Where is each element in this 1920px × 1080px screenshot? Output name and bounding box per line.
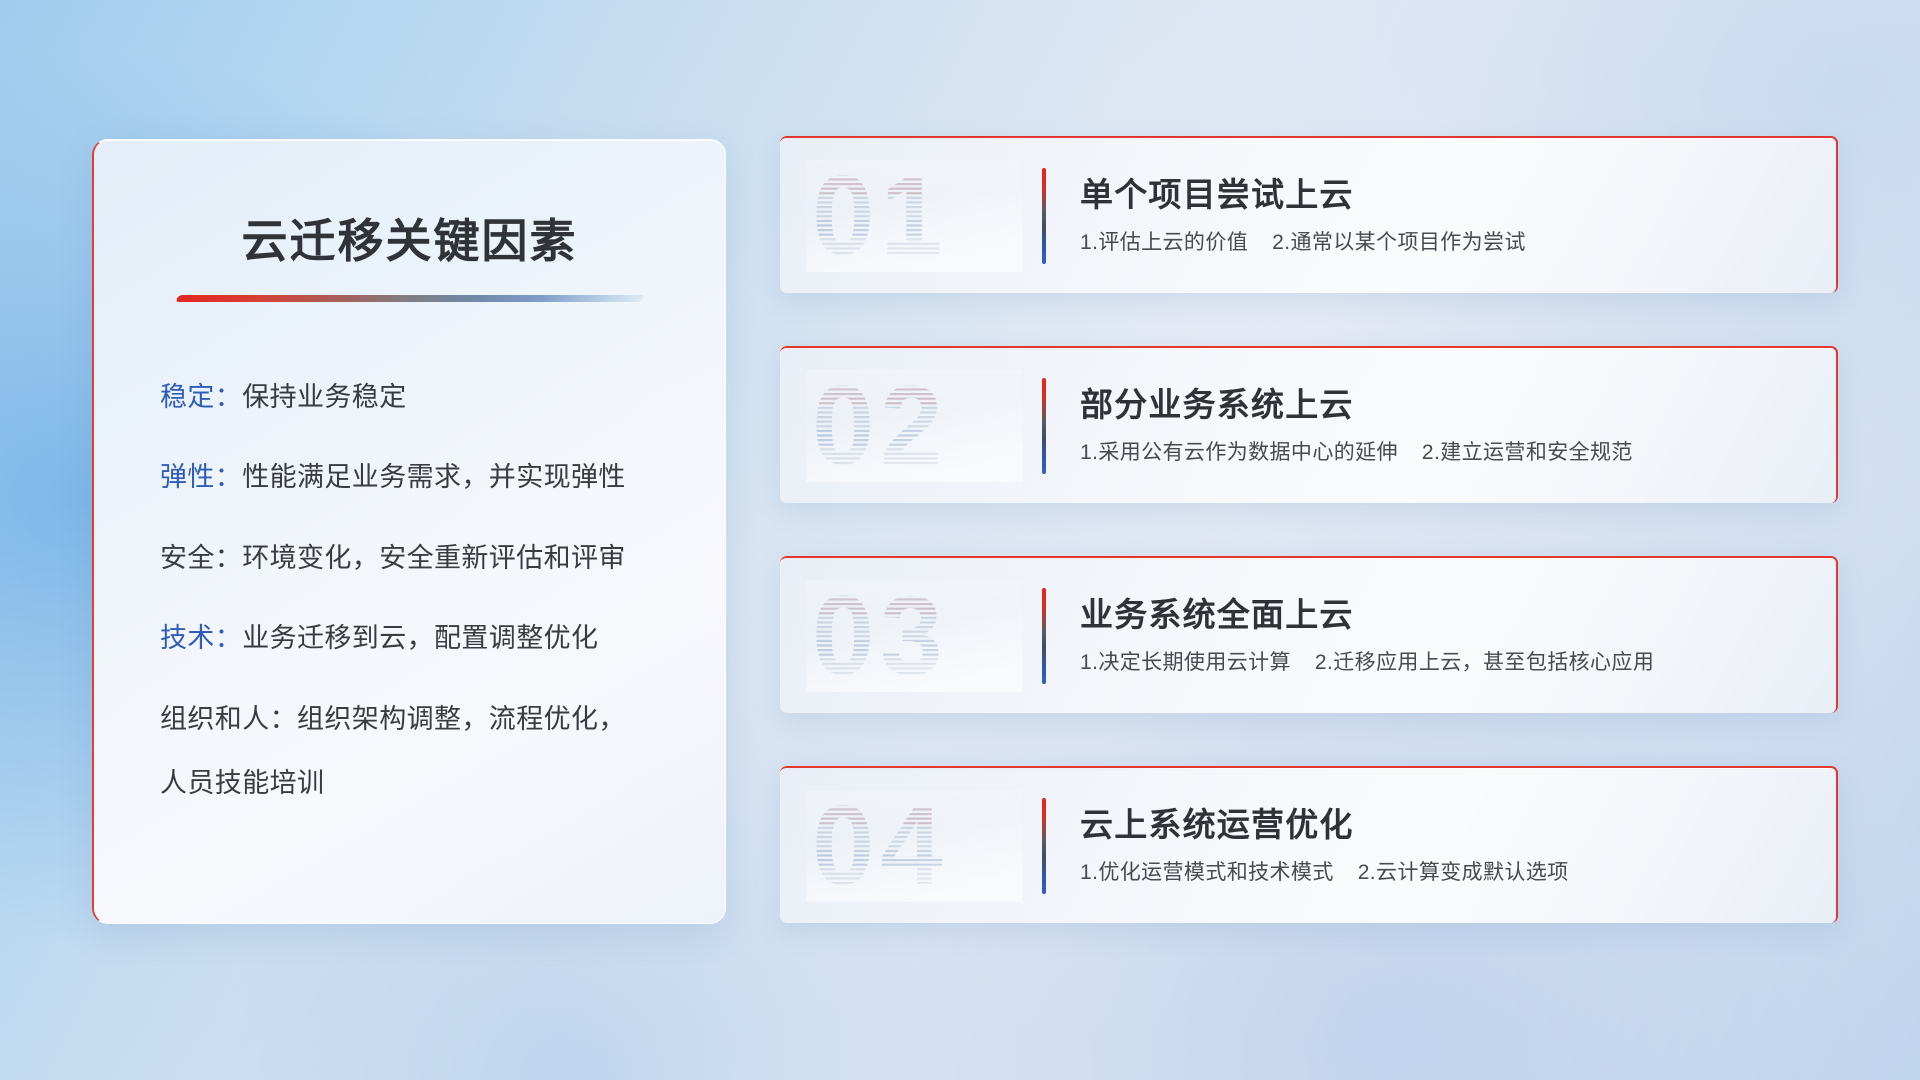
list-item-text: 组织架构调整，流程优化， bbox=[297, 704, 626, 734]
step-subtitle: 1.决定长期使用云计算2.迁移应用上云，甚至包括核心应用 bbox=[1080, 650, 1808, 675]
list-item-key: 弹性： bbox=[160, 462, 242, 492]
list-item: 技术：业务迁移到云，配置调整优化 bbox=[160, 621, 681, 656]
list-item: 稳定：保持业务稳定 bbox=[160, 380, 681, 415]
slide-canvas: 云迁移关键因素 稳定：保持业务稳定 弹性：性能满足业务需求，并实现弹性 安全：环… bbox=[0, 0, 1920, 1080]
key-factors-panel-inner: 云迁移关键因素 稳定：保持业务稳定 弹性：性能满足业务需求，并实现弹性 安全：环… bbox=[94, 140, 725, 923]
step-title: 业务系统全面上云 bbox=[1080, 595, 1808, 634]
step-body: 云上系统运营优化 1.优化运营模式和技术模式2.云计算变成默认选项 bbox=[1080, 805, 1808, 885]
key-factors-panel: 云迁移关键因素 稳定：保持业务稳定 弹性：性能满足业务需求，并实现弹性 安全：环… bbox=[92, 139, 726, 924]
list-item-key: 组织和人： bbox=[160, 704, 297, 734]
step-body: 部分业务系统上云 1.采用公有云作为数据中心的延伸2.建立运营和安全规范 bbox=[1080, 385, 1808, 465]
list-item-text: 环境变化，安全重新评估和评审 bbox=[242, 543, 626, 573]
step-point-2: 2.迁移应用上云，甚至包括核心应用 bbox=[1315, 651, 1654, 674]
step-accent-divider bbox=[1042, 168, 1046, 264]
list-item: 安全：环境变化，安全重新评估和评审 bbox=[160, 541, 681, 576]
list-item-text: 业务迁移到云，配置调整优化 bbox=[242, 623, 598, 653]
migration-steps-list: 01 01 01 单个项目尝试上云 1.评估上云的价值2.通常以某个项目作为尝试 bbox=[780, 136, 1838, 923]
step-number-03-icon: 03 03 03 bbox=[806, 580, 1022, 692]
step-point-1: 1.采用公有云作为数据中心的延伸 bbox=[1080, 441, 1398, 464]
step-accent-divider bbox=[1042, 798, 1046, 894]
step-accent-divider bbox=[1042, 378, 1046, 474]
step-title: 单个项目尝试上云 bbox=[1080, 175, 1808, 214]
step-card[interactable]: 03 03 03 业务系统全面上云 1.决定长期使用云计算2.迁移应用上云，甚至… bbox=[780, 556, 1838, 713]
key-factors-list: 稳定：保持业务稳定 弹性：性能满足业务需求，并实现弹性 安全：环境变化，安全重新… bbox=[138, 380, 681, 801]
step-body: 业务系统全面上云 1.决定长期使用云计算2.迁移应用上云，甚至包括核心应用 bbox=[1080, 595, 1808, 675]
step-accent-divider bbox=[1042, 588, 1046, 684]
step-title: 部分业务系统上云 bbox=[1080, 385, 1808, 424]
list-item-text: 人员技能培训 bbox=[160, 768, 324, 798]
step-number-01-icon: 01 01 01 bbox=[806, 160, 1022, 272]
page-title: 云迁移关键因素 bbox=[138, 216, 681, 267]
step-number-02-icon: 02 02 02 bbox=[806, 370, 1022, 482]
list-item: 组织和人：组织架构调整，流程优化， bbox=[160, 702, 681, 737]
step-subtitle: 1.评估上云的价值2.通常以某个项目作为尝试 bbox=[1080, 230, 1808, 255]
list-item-text: 性能满足业务需求，并实现弹性 bbox=[242, 462, 626, 492]
list-item-key: 稳定： bbox=[160, 382, 242, 412]
step-point-1: 1.评估上云的价值 bbox=[1080, 231, 1248, 254]
step-number-04-icon: 04 04 04 bbox=[806, 790, 1022, 902]
step-card[interactable]: 04 04 04 云上系统运营优化 1.优化运营模式和技术模式2.云计算变成默认… bbox=[780, 766, 1838, 923]
list-item-continuation: 人员技能培训 bbox=[160, 766, 681, 801]
step-point-2: 2.建立运营和安全规范 bbox=[1422, 441, 1633, 464]
step-card[interactable]: 01 01 01 单个项目尝试上云 1.评估上云的价值2.通常以某个项目作为尝试 bbox=[780, 136, 1838, 293]
step-subtitle: 1.优化运营模式和技术模式2.云计算变成默认选项 bbox=[1080, 860, 1808, 885]
step-body: 单个项目尝试上云 1.评估上云的价值2.通常以某个项目作为尝试 bbox=[1080, 175, 1808, 255]
step-title: 云上系统运营优化 bbox=[1080, 805, 1808, 844]
list-item: 弹性：性能满足业务需求，并实现弹性 bbox=[160, 460, 681, 495]
list-item-text: 保持业务稳定 bbox=[242, 382, 406, 412]
title-underline-gradient bbox=[175, 295, 644, 302]
step-point-2: 2.通常以某个项目作为尝试 bbox=[1272, 231, 1526, 254]
step-subtitle: 1.采用公有云作为数据中心的延伸2.建立运营和安全规范 bbox=[1080, 440, 1808, 465]
step-point-1: 1.优化运营模式和技术模式 bbox=[1080, 861, 1334, 884]
list-item-key: 技术： bbox=[160, 623, 242, 653]
step-point-2: 2.云计算变成默认选项 bbox=[1358, 861, 1569, 884]
list-item-key: 安全： bbox=[160, 543, 242, 573]
step-point-1: 1.决定长期使用云计算 bbox=[1080, 651, 1291, 674]
step-card[interactable]: 02 02 02 部分业务系统上云 1.采用公有云作为数据中心的延伸2.建立运营… bbox=[780, 346, 1838, 503]
